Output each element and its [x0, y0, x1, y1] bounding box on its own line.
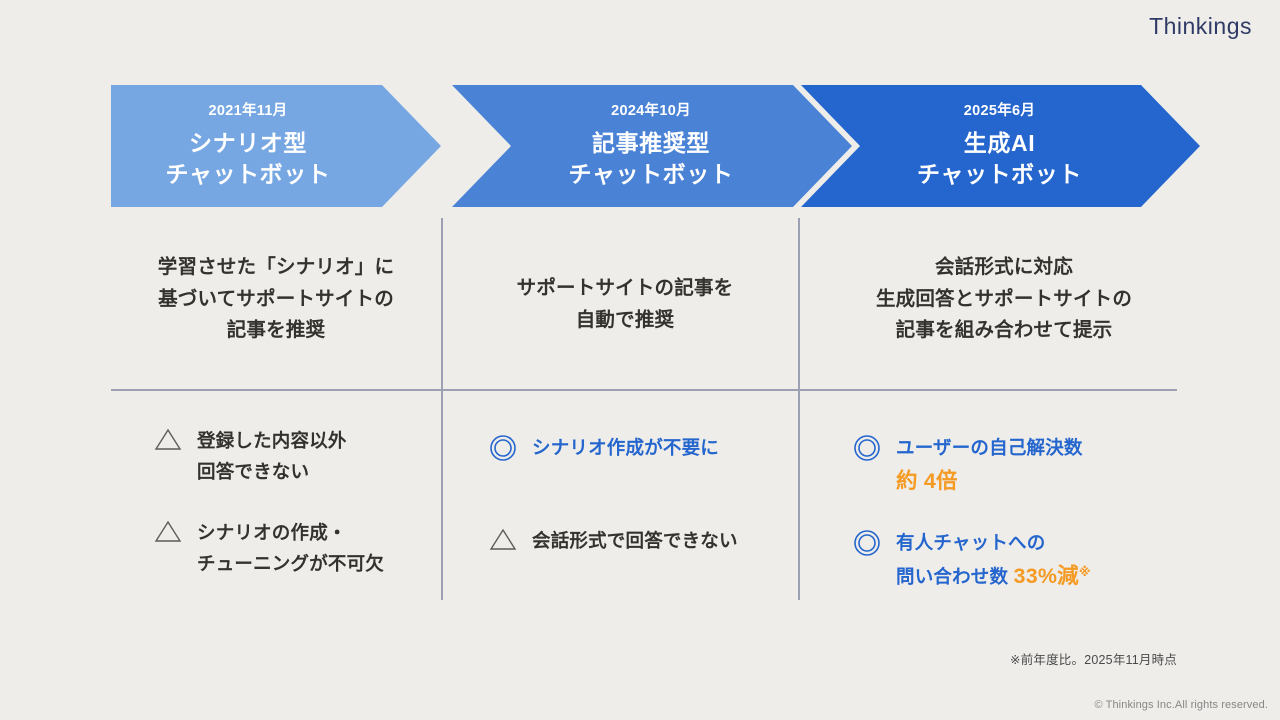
stage-2-date: 2024年10月	[611, 104, 691, 119]
list-item-text: 登録した内容以外 回答できない	[197, 425, 347, 487]
metric-value: 約 4倍	[896, 469, 958, 493]
list-item-line-2: 回答できない	[197, 456, 347, 487]
list-item-line-2: チューニングが不可欠	[197, 548, 384, 579]
list-item: シナリオ作成が不要に	[486, 432, 786, 463]
triangle-icon	[151, 425, 185, 451]
metric-footnote-mark: ※	[1079, 565, 1091, 579]
list-item-line-1: 会話形式で回答できない	[532, 525, 738, 556]
stage-3-title-line1: 生成AI	[964, 129, 1035, 157]
list-item-text: シナリオ作成が不要に	[532, 432, 719, 463]
stage-2-description-line-1: サポートサイトの記事を	[452, 273, 798, 305]
timeline-stage-2: 2024年10月 記事推奨型 チャットボット	[452, 85, 852, 207]
list-item-text: 有人チャットへの 問い合わせ数 33%減※	[896, 527, 1091, 594]
list-item-line-1: シナリオの作成・	[197, 517, 384, 548]
double-circle-icon	[486, 432, 520, 462]
stage-3-description-line-2: 生成回答とサポートサイトの	[809, 284, 1199, 316]
list-item-line-1: 登録した内容以外	[197, 425, 347, 456]
list-item: 有人チャットへの 問い合わせ数 33%減※	[850, 527, 1180, 594]
metric-value: 33%減	[1014, 564, 1079, 588]
stage-2-description-line-2: 自動で推奨	[452, 305, 798, 337]
stage-1-description-line-1: 学習させた「シナリオ」に	[111, 252, 441, 284]
list-item-text: ユーザーの自己解決数 約 4倍	[896, 432, 1083, 499]
list-item: シナリオの作成・ チューニングが不可欠	[151, 517, 431, 579]
list-item: 登録した内容以外 回答できない	[151, 425, 431, 487]
stage-1-date: 2021年11月	[209, 104, 288, 119]
brand-logo: Thinkings	[1149, 13, 1252, 40]
copyright: © Thinkings Inc.All rights reserved.	[1094, 699, 1268, 711]
metric-label: 問い合わせ数	[896, 566, 1014, 587]
stage-3-description: 会話形式に対応 生成回答とサポートサイトの 記事を組み合わせて提示	[809, 252, 1199, 347]
stage-3-description-line-1: 会話形式に対応	[809, 252, 1199, 284]
timeline-arrow-band: 2021年11月 シナリオ型 チャットボット 2024年10月 記事推奨型 チャ…	[0, 85, 1280, 207]
stage-3-bullets: ユーザーの自己解決数 約 4倍 有人チャットへの 問い合わせ数 33%減※	[850, 432, 1180, 616]
stage-1-bullets: 登録した内容以外 回答できない シナリオの作成・ チューニングが不可欠	[151, 425, 431, 601]
stage-3-date: 2025年6月	[964, 104, 1035, 119]
timeline-stage-3: 2025年6月 生成AI チャットボット	[801, 85, 1200, 207]
stage-3-description-line-3: 記事を組み合わせて提示	[809, 315, 1199, 347]
list-item: ユーザーの自己解決数 約 4倍	[850, 432, 1180, 499]
stage-1-title-line1: シナリオ型	[189, 129, 307, 157]
list-item-line-1: 有人チャットへの	[896, 527, 1091, 558]
stage-2-title-line1: 記事推奨型	[592, 129, 710, 157]
stage-2-title-line2: チャットボット	[569, 160, 734, 188]
list-item-line-1: シナリオ作成が不要に	[532, 432, 719, 463]
triangle-icon	[151, 517, 185, 543]
stage-2-bullets: シナリオ作成が不要に 会話形式で回答できない	[486, 432, 786, 578]
list-item-line-1: ユーザーの自己解決数	[896, 432, 1083, 463]
list-item-line-2: 問い合わせ数 33%減※	[896, 558, 1091, 594]
double-circle-icon	[850, 527, 884, 557]
stage-2-description: サポートサイトの記事を 自動で推奨	[452, 273, 798, 336]
stage-1-description-line-2: 基づいてサポートサイトの	[111, 284, 441, 316]
footnote: ※前年度比。2025年11月時点	[1010, 649, 1177, 668]
timeline-stage-1: 2021年11月 シナリオ型 チャットボット	[111, 85, 441, 207]
list-item-text: 会話形式で回答できない	[532, 525, 738, 556]
stage-1-title-line2: チャットボット	[166, 160, 331, 188]
stage-1-description: 学習させた「シナリオ」に 基づいてサポートサイトの 記事を推奨	[111, 252, 441, 347]
list-item: 会話形式で回答できない	[486, 525, 786, 556]
column-divider-1	[441, 218, 443, 600]
triangle-icon	[486, 525, 520, 551]
list-item-line-2: 約 4倍	[896, 463, 1083, 499]
column-divider-2	[798, 218, 800, 600]
double-circle-icon	[850, 432, 884, 462]
list-item-text: シナリオの作成・ チューニングが不可欠	[197, 517, 384, 579]
stage-3-title-line2: チャットボット	[917, 160, 1082, 188]
section-divider	[111, 389, 1177, 391]
stage-1-description-line-3: 記事を推奨	[111, 315, 441, 347]
